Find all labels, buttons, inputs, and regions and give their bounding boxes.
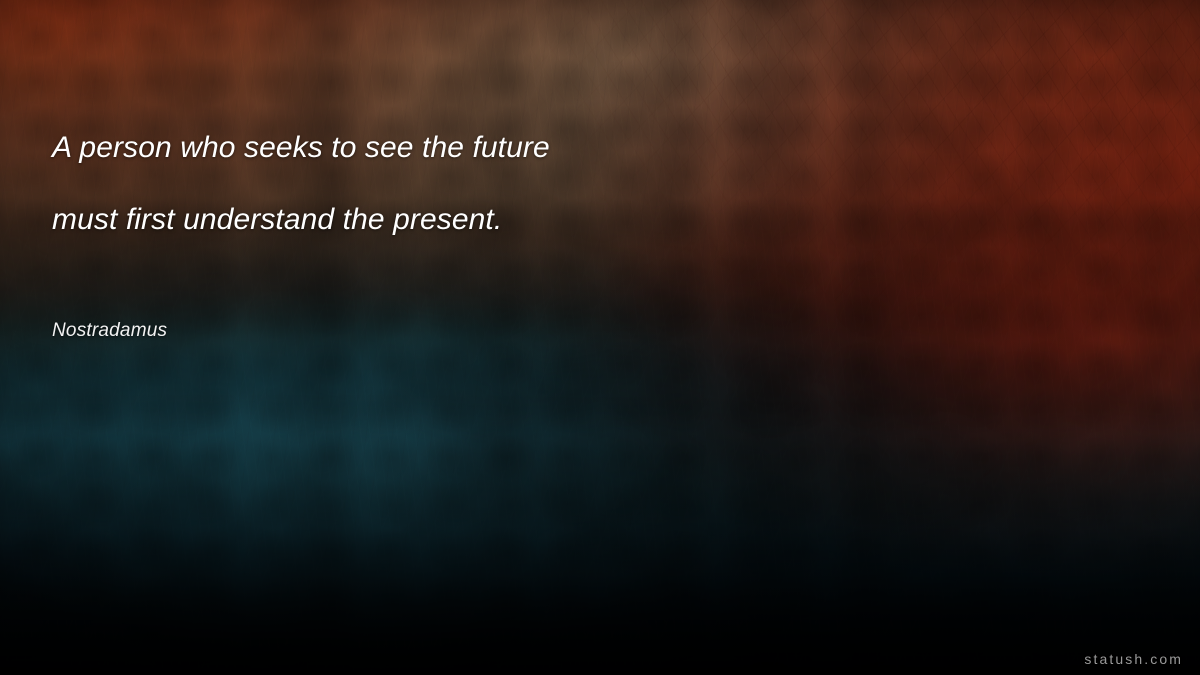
quote-text: A person who seeks to see the future mus… xyxy=(52,112,752,256)
content-layer: A person who seeks to see the future mus… xyxy=(0,0,1200,675)
watermark-label: statush.com xyxy=(1084,651,1183,667)
quote-card: A person who seeks to see the future mus… xyxy=(0,0,1200,675)
quote-author: Nostradamus xyxy=(52,320,167,342)
